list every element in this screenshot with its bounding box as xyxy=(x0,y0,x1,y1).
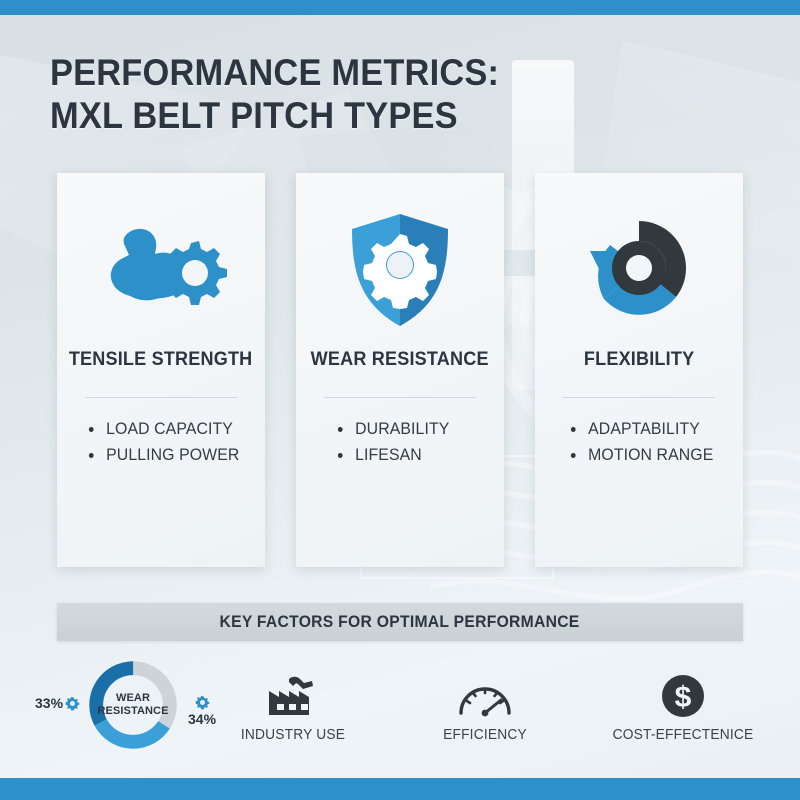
list-item: LOAD CAPACITY xyxy=(85,420,231,439)
circular-arrow-icon xyxy=(580,195,698,345)
card-title: FLEXIBILITY xyxy=(584,349,694,371)
key-factors-banner: KEY FACTORS FOR OPTIMAL PERFORMANCE xyxy=(57,603,743,641)
donut-center-label: WEAR RESISTANCE xyxy=(87,659,179,751)
metric-cost-effectiveness[interactable]: $ COST-EFFECTENICE xyxy=(598,659,768,743)
list-item: DURABILITY xyxy=(334,420,468,439)
metric-industry-use[interactable]: INDUSTRY USE xyxy=(228,659,358,743)
list-item: LIFESAN xyxy=(334,446,468,465)
metric-cards: TENSILE STRENGTH LOAD CAPACITY PULLING P… xyxy=(57,173,743,567)
card-divider xyxy=(85,397,237,398)
title-line-2: MXL BELT PITCH TYPES xyxy=(50,95,645,138)
card-wear-resistance[interactable]: WEAR RESISTANCE DURABILITY LIFESAN xyxy=(296,173,504,567)
svg-text:$: $ xyxy=(675,681,692,714)
bottom-accent-bar xyxy=(0,778,800,800)
donut-right-percent: 34% xyxy=(188,711,216,727)
shield-gear-icon xyxy=(348,195,452,345)
card-title: WEAR RESISTANCE xyxy=(311,349,489,371)
card-tensile-strength[interactable]: TENSILE STRENGTH LOAD CAPACITY PULLING P… xyxy=(57,173,265,567)
card-flexibility[interactable]: FLEXIBILITY ADAPTABILITY MOTION RANGE xyxy=(535,173,743,567)
card-divider xyxy=(563,397,715,398)
card-divider xyxy=(324,397,476,398)
donut-left-percent: 33% xyxy=(35,695,63,711)
donut-right-value: 34% xyxy=(188,695,216,727)
banner-label: KEY FACTORS FOR OPTIMAL PERFORMANCE xyxy=(220,613,580,632)
top-accent-bar xyxy=(0,0,800,15)
infographic-poster: PERFORMANCE METRICS: MXL BELT PITCH TYPE… xyxy=(0,0,800,800)
gear-icon xyxy=(65,696,80,711)
card-title: TENSILE STRENGTH xyxy=(69,349,253,371)
metric-label: EFFICIENCY xyxy=(428,727,542,743)
bottom-metrics-row: WEAR RESISTANCE 33% xyxy=(0,655,800,765)
gear-icon xyxy=(195,695,210,710)
dollar-coin-icon: $ xyxy=(598,659,768,719)
metric-label: INDUSTRY USE xyxy=(231,727,355,743)
list-item: MOTION RANGE xyxy=(567,446,711,465)
title-line-1: PERFORMANCE METRICS: xyxy=(50,52,499,93)
metric-efficiency[interactable]: EFFICIENCY xyxy=(425,659,545,743)
wear-resistance-donut-chart[interactable]: WEAR RESISTANCE 33% xyxy=(30,655,235,765)
donut-left-value: 33% xyxy=(35,695,80,711)
factory-icon xyxy=(228,659,358,719)
card-bullet-list: ADAPTABILITY MOTION RANGE xyxy=(567,420,717,472)
list-item: ADAPTABILITY xyxy=(567,420,711,439)
flexed-bicep-gear-icon xyxy=(95,195,227,345)
list-item: PULLING POWER xyxy=(85,446,231,465)
donut-center-line-1: WEAR xyxy=(116,692,150,705)
page-title: PERFORMANCE METRICS: MXL BELT PITCH TYPE… xyxy=(50,52,645,137)
card-bullet-list: DURABILITY LIFESAN xyxy=(334,420,474,472)
donut-center-line-2: RESISTANCE xyxy=(97,705,168,718)
gauge-icon xyxy=(425,659,545,719)
card-bullet-list: LOAD CAPACITY PULLING POWER xyxy=(85,420,237,472)
metric-label: COST-EFFECTENICE xyxy=(602,727,764,743)
